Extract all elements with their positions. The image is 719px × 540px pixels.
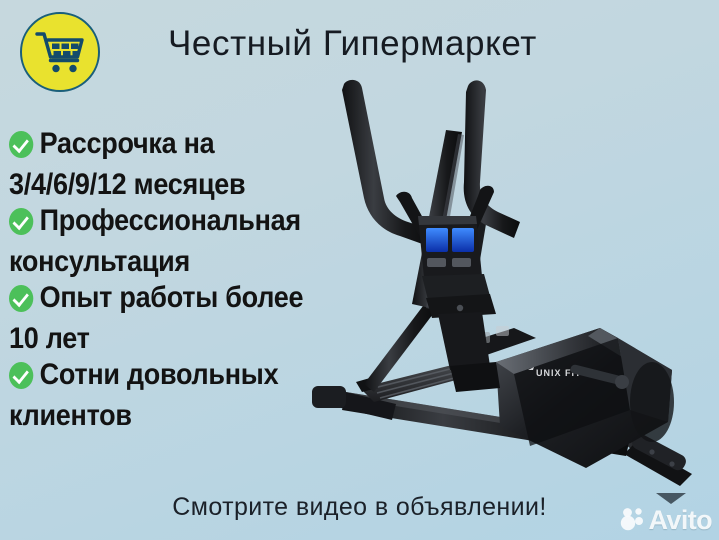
feature-item-consultation-line2: консультация: [9, 244, 333, 280]
check-circle-icon: [9, 362, 33, 398]
feature-text: Опыт работы более: [40, 281, 304, 314]
check-circle-icon: [9, 208, 33, 244]
video-caption: Смотрите видео в объявлении!: [0, 493, 719, 522]
advertisement-banner: Честный Гипермаркет Рассрочка на 3/4/6/9…: [0, 0, 719, 540]
feature-text: Рассрочка на: [40, 127, 215, 160]
feature-item-clients-line2: клиентов: [9, 398, 333, 434]
feature-text: 10 лет: [9, 322, 90, 355]
feature-text: Сотни довольных: [40, 358, 279, 391]
feature-item-consultation-line1: Профессиональная: [9, 203, 333, 244]
brand-title: Честный Гипермаркет: [168, 24, 537, 64]
console-display-right: [452, 228, 474, 252]
feature-text: Профессиональная: [40, 204, 301, 237]
feature-item-clients-line1: Сотни довольных: [9, 357, 333, 398]
check-circle-icon: [9, 131, 33, 167]
avito-dots-logo: [620, 507, 645, 535]
check-circle-icon: [9, 285, 33, 321]
feature-text: клиентов: [9, 399, 132, 432]
feature-text: консультация: [9, 245, 190, 278]
feature-text: 3/4/6/9/12 месяцев: [9, 168, 245, 201]
avito-wordmark: Avito: [649, 505, 713, 536]
console-display-left: [426, 228, 448, 252]
watermark-notch: [656, 493, 686, 504]
feature-item-installments-line2: 3/4/6/9/12 месяцев: [9, 167, 333, 203]
shopping-cart-logo-badge: [20, 12, 100, 92]
feature-list: Рассрочка на 3/4/6/9/12 месяцев Професси…: [9, 126, 369, 434]
feature-item-experience-line2: 10 лет: [9, 321, 333, 357]
shopping-cart-icon: [34, 29, 86, 75]
avito-watermark: Avito: [620, 505, 713, 536]
feature-item-experience-line1: Опыт работы более: [9, 280, 333, 321]
feature-item-installments-line1: Рассрочка на: [9, 126, 333, 167]
